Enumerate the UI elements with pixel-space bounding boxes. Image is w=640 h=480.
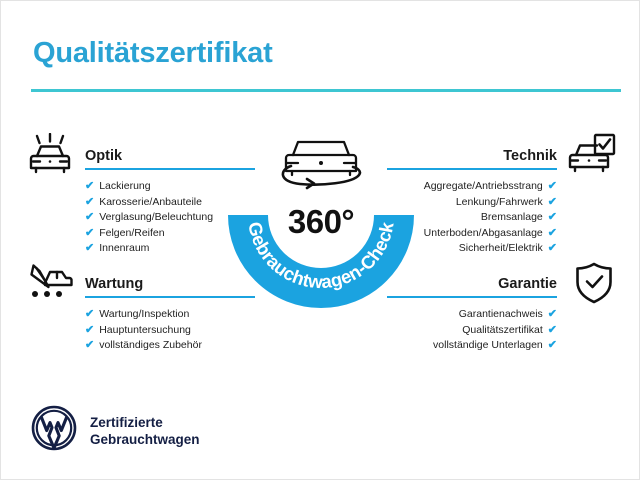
check-icon: ✔ bbox=[548, 325, 557, 336]
shield-check-icon bbox=[571, 261, 617, 305]
check-icon: ✔ bbox=[85, 181, 94, 192]
footer-line-2: Gebrauchtwagen bbox=[90, 431, 200, 448]
title-divider bbox=[31, 89, 621, 92]
car-shine-icon bbox=[25, 133, 75, 177]
check-icon: ✔ bbox=[85, 309, 94, 320]
check-icon: ✔ bbox=[548, 309, 557, 320]
certificate-canvas: Qualitätszertifikat bbox=[0, 0, 640, 480]
list-item-label: Unterboden/Abgasanlage bbox=[424, 226, 543, 242]
list-item: ✔vollständiges Zubehör bbox=[85, 338, 255, 354]
check-icon: ✔ bbox=[548, 212, 557, 223]
car-rotate-icon bbox=[283, 142, 360, 188]
list-item-label: Aggregate/Antriebsstrang bbox=[424, 179, 543, 195]
check-icon: ✔ bbox=[548, 228, 557, 239]
vw-logo bbox=[31, 405, 77, 456]
list-item: vollständige Unterlagen✔ bbox=[387, 338, 557, 354]
list-item-label: Lackierung bbox=[99, 179, 150, 195]
check-icon: ✔ bbox=[85, 197, 94, 208]
list-item: ✔Hauptuntersuchung bbox=[85, 323, 255, 339]
car-checkbox-icon bbox=[567, 133, 617, 177]
list-item: Qualitätszertifikat✔ bbox=[387, 323, 557, 339]
list-item-label: Felgen/Reifen bbox=[99, 226, 164, 242]
list-item-label: Garantienachweis bbox=[459, 307, 543, 323]
section-list-garantie: Garantienachweis✔ Qualitätszertifikat✔ v… bbox=[387, 307, 557, 354]
check-icon: ✔ bbox=[548, 243, 557, 254]
list-item-label: Karosserie/Anbauteile bbox=[99, 195, 202, 211]
footer-line-1: Zertifizierte bbox=[90, 414, 200, 431]
list-item-label: Verglasung/Beleuchtung bbox=[99, 210, 213, 226]
360-check-badge: Gebrauchtwagen-Check 360° bbox=[225, 119, 417, 311]
list-item-label: Bremsanlage bbox=[481, 210, 543, 226]
list-item-label: Wartung/Inspektion bbox=[99, 307, 189, 323]
footer-text: Zertifizierte Gebrauchtwagen bbox=[90, 414, 200, 448]
badge-center-text: 360° bbox=[225, 203, 417, 241]
check-icon: ✔ bbox=[548, 340, 557, 351]
check-icon: ✔ bbox=[548, 197, 557, 208]
list-item-label: vollständige Unterlagen bbox=[433, 338, 543, 354]
list-item-label: vollständiges Zubehör bbox=[99, 338, 202, 354]
check-icon: ✔ bbox=[85, 325, 94, 336]
list-item-label: Qualitätszertifikat bbox=[462, 323, 543, 339]
list-item-label: Innenraum bbox=[99, 241, 149, 257]
page-title: Qualitätszertifikat bbox=[33, 37, 273, 70]
check-icon: ✔ bbox=[85, 340, 94, 351]
check-icon: ✔ bbox=[85, 228, 94, 239]
list-item-label: Sicherheit/Elektrik bbox=[459, 241, 543, 257]
pen-car-icon bbox=[25, 261, 75, 305]
list-item-label: Hauptuntersuchung bbox=[99, 323, 191, 339]
footer-brand: Zertifizierte Gebrauchtwagen bbox=[31, 405, 200, 456]
check-icon: ✔ bbox=[85, 212, 94, 223]
check-icon: ✔ bbox=[548, 181, 557, 192]
list-item-label: Lenkung/Fahrwerk bbox=[456, 195, 543, 211]
check-icon: ✔ bbox=[85, 243, 94, 254]
section-list-wartung: ✔Wartung/Inspektion ✔Hauptuntersuchung ✔… bbox=[85, 307, 255, 354]
